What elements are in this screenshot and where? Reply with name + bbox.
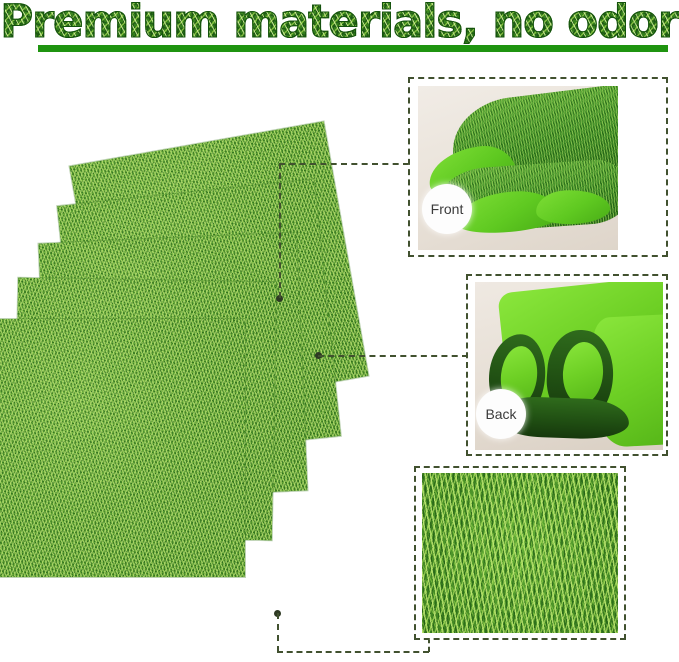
callout-front: Front <box>408 77 668 257</box>
back-label-text: Back <box>485 406 516 422</box>
grass-mat-stack <box>0 104 338 624</box>
connector-line-back-horizontal <box>318 355 468 357</box>
grass-mat <box>0 319 245 577</box>
callout-back: Back <box>466 274 668 456</box>
connector-line-front-vertical <box>279 163 281 298</box>
front-label-text: Front <box>431 201 464 217</box>
headline-block: Premium materials, no odor <box>0 0 679 62</box>
back-label-badge: Back <box>476 389 526 439</box>
connector-line-closeup-horizontal <box>277 651 429 653</box>
closeup-grass-photo <box>422 473 618 633</box>
callout-closeup <box>414 466 626 640</box>
connector-line-closeup-vertical <box>277 613 279 652</box>
connector-line-closeup-stub <box>428 638 430 652</box>
front-label-badge: Front <box>422 184 472 234</box>
connector-line-front-horizontal <box>279 163 409 165</box>
product-infographic: Premium materials, no odor <box>0 0 679 662</box>
page-title: Premium materials, no odor <box>0 0 679 46</box>
headline-underline <box>38 45 668 52</box>
